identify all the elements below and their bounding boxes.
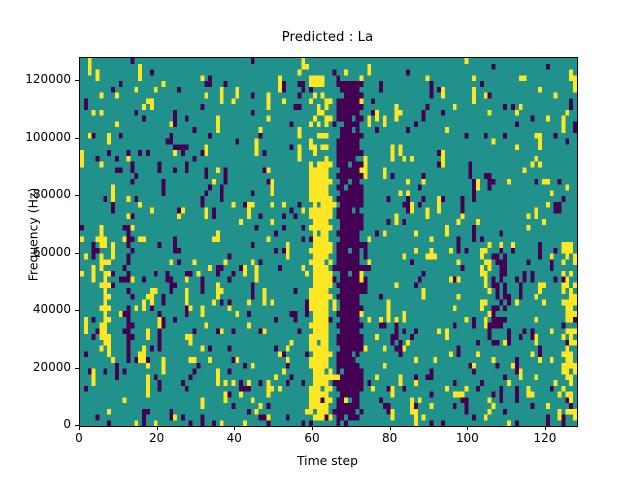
x-tick-label: 120 [515, 431, 575, 445]
x-tick-mark [157, 426, 158, 430]
x-tick-mark [467, 426, 468, 430]
y-tick-mark [75, 310, 79, 311]
y-tick-label: 80000 [3, 187, 71, 201]
x-tick-label: 100 [437, 431, 497, 445]
y-tick-mark [75, 80, 79, 81]
matplotlib-figure: Predicted : La Time step Frequency (Hz) … [0, 0, 640, 480]
x-tick-mark [79, 426, 80, 430]
y-axis-label: Frequency (Hz) [26, 140, 41, 330]
x-tick-mark [234, 426, 235, 430]
x-tick-mark [390, 426, 391, 430]
x-tick-label: 20 [127, 431, 187, 445]
y-tick-mark [75, 253, 79, 254]
y-tick-mark [75, 195, 79, 196]
y-tick-label: 120000 [3, 72, 71, 86]
x-tick-mark [312, 426, 313, 430]
x-tick-label: 0 [49, 431, 109, 445]
x-axis-label: Time step [79, 453, 576, 468]
y-tick-label: 40000 [3, 302, 71, 316]
y-tick-label: 0 [3, 417, 71, 431]
heatmap-image [80, 58, 577, 426]
x-tick-label: 80 [360, 431, 420, 445]
x-tick-label: 60 [282, 431, 342, 445]
y-tick-label: 60000 [3, 245, 71, 259]
y-tick-label: 20000 [3, 360, 71, 374]
y-tick-mark [75, 368, 79, 369]
y-tick-label: 100000 [3, 130, 71, 144]
y-tick-mark [75, 138, 79, 139]
heatmap-plot-area [79, 57, 578, 427]
y-tick-mark [75, 425, 79, 426]
x-tick-label: 40 [204, 431, 264, 445]
page-title: Predicted : La [79, 30, 576, 45]
x-tick-mark [545, 426, 546, 430]
